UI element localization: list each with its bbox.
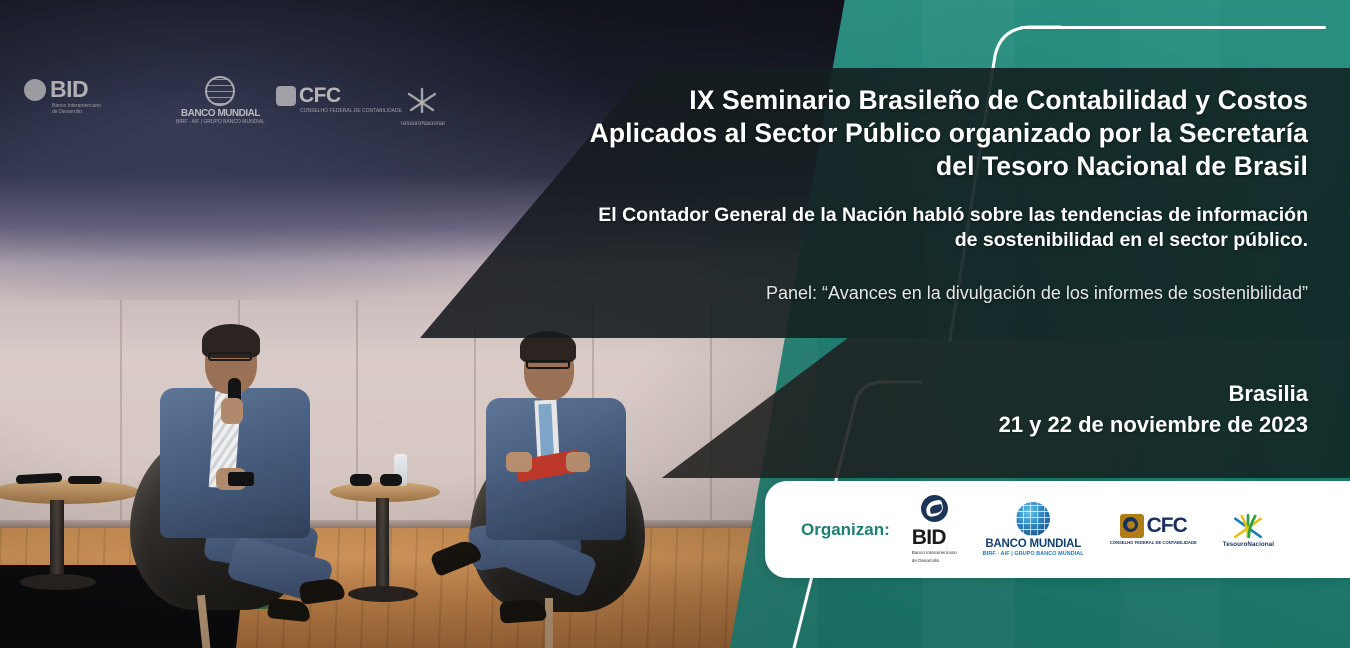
event-dates: 21 y 22 de noviembre de 2023 [688,409,1308,440]
organizer-subtitle: CONSELHO FEDERAL DE CONTABILIDADE [1110,540,1197,545]
event-city: Brasilia [688,378,1308,409]
organizer-subtitle-line-1: Banco Interamericano [912,550,957,556]
organizer-logo-banco-mundial[interactable]: BANCO MUNDIAL BIRF · AIF | GRUPO BANCO M… [983,502,1084,557]
page-title: IX Seminario Brasileño de Contabilidad y… [588,84,1308,183]
organizer-name: BID [912,527,957,548]
bid-logo-icon [921,495,948,522]
organizer-name: BANCO MUNDIAL [985,538,1081,550]
world-bank-globe-icon [1016,502,1050,536]
subtitle: El Contador General de la Nación habló s… [588,203,1308,253]
event-banner: BID Banco Interamericano de Desarrollo B… [0,0,1350,648]
organizer-name: TesouroNacional [1223,541,1274,548]
organizers-logo-list: BID Banco Interamericano de Desarrollo B… [912,495,1274,563]
tesouro-nacional-star-icon [1230,512,1266,540]
organizer-name: CFC [1147,514,1187,538]
event-place-and-date: Brasilia 21 y 22 de noviembre de 2023 [688,378,1308,440]
top-horizontal-rule [1020,26,1326,29]
organizers-card: Organizan: BID Banco Interamericano de D… [765,481,1350,578]
organizer-logo-bid[interactable]: BID Banco Interamericano de Desarrollo [912,495,957,563]
panel-session-title: Panel: “Avances en la divulgación de los… [548,281,1308,305]
organizer-logo-cfc[interactable]: CFC CONSELHO FEDERAL DE CONTABILIDADE [1110,514,1197,545]
organizers-label: Organizan: [801,520,890,540]
organizer-logo-tesouro-nacional[interactable]: TesouroNacional [1223,512,1274,548]
cfc-logo-icon [1120,514,1144,538]
organizer-subtitle-line-2: de Desarrollo [912,558,957,564]
organizer-subtitle: BIRF · AIF | GRUPO BANCO MUNDIAL [983,551,1084,557]
